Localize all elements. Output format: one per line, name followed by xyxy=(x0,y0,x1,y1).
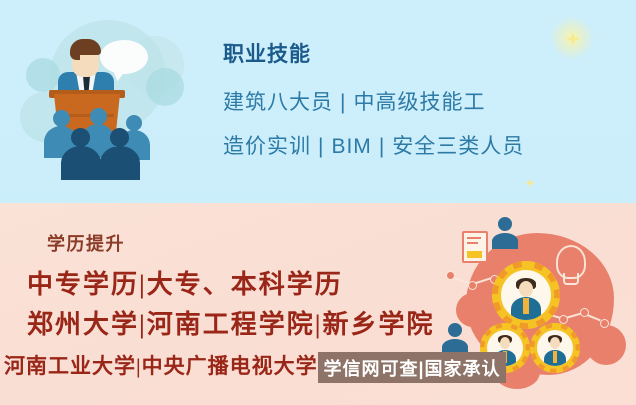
separator: | xyxy=(333,91,353,114)
document-icon xyxy=(462,231,488,263)
skill-item: BIM xyxy=(331,135,371,158)
vocational-skills-title: 职业技能 xyxy=(223,38,311,68)
skill-item: 安全三类人员 xyxy=(392,135,524,158)
node-dot xyxy=(468,281,477,290)
skill-item: 建筑八大员 xyxy=(223,91,333,114)
audience-head xyxy=(110,128,129,147)
audience-silhouette xyxy=(61,146,101,180)
speech-bubble-icon xyxy=(100,40,148,74)
audience-head xyxy=(71,128,90,147)
vocational-skills-panel: 职业技能 建筑八大员|中高级技能工 造价实训|BIM|安全三类人员 xyxy=(0,0,636,203)
speaker-hair xyxy=(70,39,101,55)
vocational-skills-line-2: 造价实训|BIM|安全三类人员 xyxy=(223,130,524,160)
education-upgrade-title: 学历提升 xyxy=(47,230,125,256)
audience-head xyxy=(90,108,107,125)
audience-head xyxy=(53,110,70,127)
education-line-1: 中专学历|大专、本科学历 xyxy=(27,264,343,301)
node-dot xyxy=(580,308,589,317)
education-line-2: 郑州大学|河南工程学院|新乡学院 xyxy=(27,304,434,341)
lightbulb-base-icon xyxy=(563,273,579,285)
gear-icon-large xyxy=(492,261,560,329)
verification-badge-label: 学信网可查|国家承认 xyxy=(323,355,500,381)
gear-icon-small-right xyxy=(530,323,580,373)
sparkle-icon xyxy=(566,32,580,46)
sparkle-icon xyxy=(525,178,535,188)
audience-head xyxy=(126,115,142,131)
skill-item: 造价实训 xyxy=(223,135,311,158)
speaker-podium-illustration xyxy=(8,6,208,196)
separator: | xyxy=(311,135,331,158)
vocational-skills-line-1: 建筑八大员|中高级技能工 xyxy=(223,86,485,116)
audience-silhouette xyxy=(100,146,140,180)
separator: | xyxy=(372,135,392,158)
decor-blob xyxy=(586,325,626,365)
education-line-3: 河南工业大学|中央广播电视大学 xyxy=(4,350,318,380)
node-dot xyxy=(446,271,455,280)
decor-blob xyxy=(146,68,184,106)
decor-blob xyxy=(26,58,60,92)
decor-blob xyxy=(456,293,490,327)
skill-item: 中高级技能工 xyxy=(353,91,485,114)
promo-banner: 职业技能 建筑八大员|中高级技能工 造价实训|BIM|安全三类人员 xyxy=(0,0,636,405)
node-dot xyxy=(600,319,609,328)
verification-badge: 学信网可查|国家承认 xyxy=(318,352,506,383)
